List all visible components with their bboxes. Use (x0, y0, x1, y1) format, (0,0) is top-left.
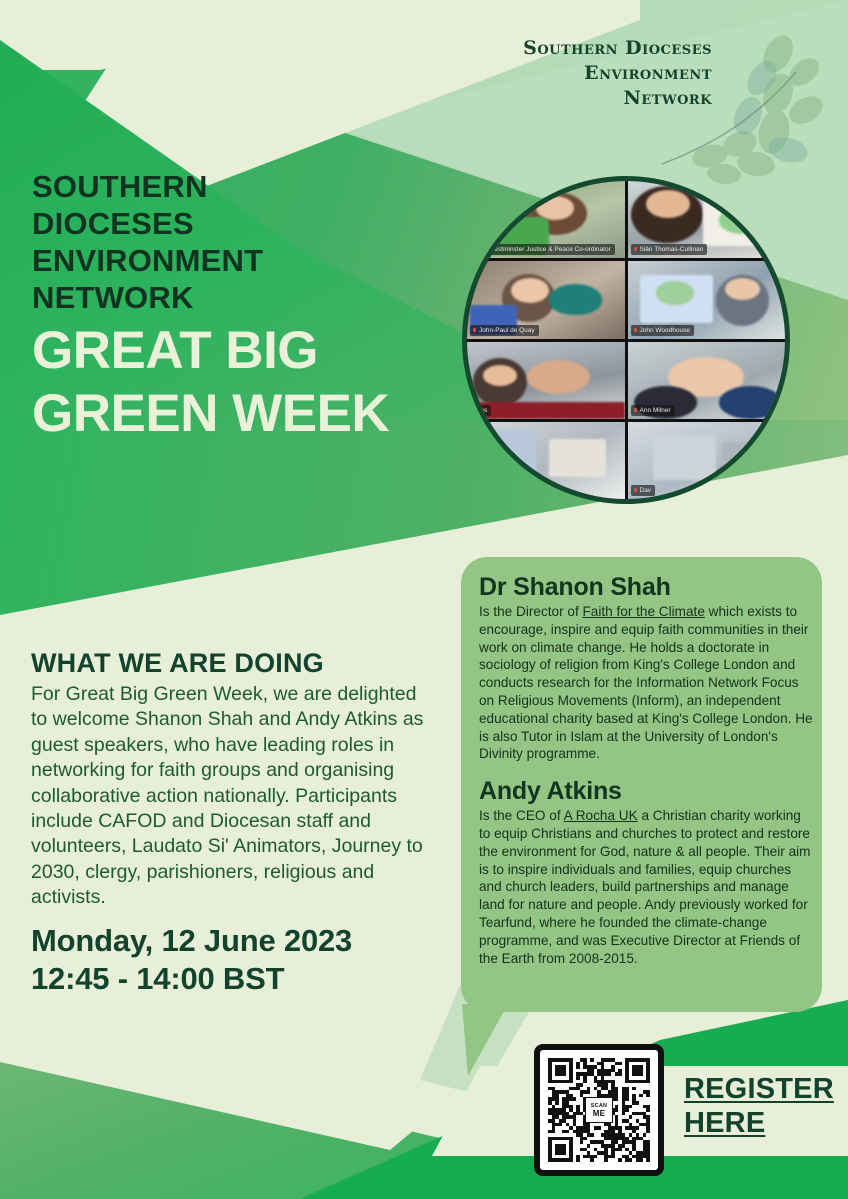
headline-kicker-4: NETWORK (32, 279, 462, 316)
page-title: SOUTHERN DIOCESES ENVIRONMENT NETWORK GR… (32, 168, 462, 442)
zoom-call-photo: g - Westminster Justice & Peace Co-ordin… (462, 176, 790, 504)
headline-title-2: GREEN WEEK (32, 385, 462, 442)
participant-name: John-Paul de Quay (470, 325, 539, 336)
event-time: 12:45 - 14:00 BST (31, 960, 451, 998)
section-heading: WHAT WE ARE DOING (31, 648, 431, 679)
participant-name: les (470, 405, 491, 416)
zoom-tile: Dav (628, 422, 786, 499)
participant-name: g - Westminster Justice & Peace Co-ordin… (470, 244, 615, 255)
zoom-tile (467, 422, 625, 499)
scan-me-bottom: ME (593, 1110, 605, 1118)
register-line-2: HERE (684, 1106, 848, 1140)
participant-name (470, 494, 483, 496)
speaker-bio: Is the CEO of A Rocha UK a Christian cha… (479, 807, 813, 967)
register-line-1: REGISTER (684, 1072, 848, 1106)
what-we-are-doing-section: WHAT WE ARE DOING For Great Big Green We… (31, 648, 431, 911)
zoom-tile: John Woodhouse (628, 261, 786, 338)
botanical-leaf-sprig-icon (628, 32, 828, 192)
zoom-tile: Ann Milner (628, 342, 786, 419)
speaker-entry-shanon-shah: Dr Shanon Shah Is the Director of Faith … (479, 572, 813, 763)
headline-kicker-3: ENVIRONMENT (32, 242, 462, 279)
register-link[interactable]: REGISTER HERE (684, 1072, 848, 1140)
section-body: For Great Big Green Week, we are delight… (31, 682, 431, 911)
bio-spacer (479, 763, 813, 776)
participant-name: Dav (631, 485, 656, 496)
bio-rest: which exists to encourage, inspire and e… (479, 604, 813, 761)
bio-rest: a Christian charity working to equip Chr… (479, 808, 810, 965)
zoom-tile: Siân Thomas-Cullinan (628, 181, 786, 258)
event-datetime: Monday, 12 June 2023 12:45 - 14:00 BST (31, 922, 451, 998)
headline-kicker-2: DIOCESES (32, 205, 462, 242)
speaker-name: Andy Atkins (479, 776, 813, 806)
zoom-participant-grid: g - Westminster Justice & Peace Co-ordin… (467, 181, 785, 499)
bio-link[interactable]: A Rocha UK (564, 808, 638, 823)
headline-title-1: GREAT BIG (32, 322, 462, 379)
zoom-tile: les (467, 342, 625, 419)
bio-intro: Is the CEO of (479, 808, 564, 823)
qr-code[interactable]: SCAN ME (534, 1044, 664, 1176)
bio-link[interactable]: Faith for the Climate (583, 604, 705, 619)
speaker-bio: Is the Director of Faith for the Climate… (479, 603, 813, 763)
zoom-tile: g - Westminster Justice & Peace Co-ordin… (467, 181, 625, 258)
qr-code-matrix: SCAN ME (548, 1058, 650, 1162)
poster-canvas: Southern Dioceses Environment Network SO… (0, 0, 848, 1199)
speaker-name: Dr Shanon Shah (479, 572, 813, 602)
headline-kicker-1: SOUTHERN (32, 168, 462, 205)
bio-intro: Is the Director of (479, 604, 583, 619)
speaker-bio-content: Dr Shanon Shah Is the Director of Faith … (479, 572, 813, 967)
participant-name: John Woodhouse (631, 325, 694, 336)
speaker-entry-andy-atkins: Andy Atkins Is the CEO of A Rocha UK a C… (479, 776, 813, 967)
scan-me-badge: SCAN ME (585, 1097, 613, 1123)
zoom-tile: John-Paul de Quay (467, 261, 625, 338)
participant-name: Ann Milner (631, 405, 675, 416)
event-date: Monday, 12 June 2023 (31, 922, 451, 960)
participant-name: Siân Thomas-Cullinan (631, 244, 708, 255)
brand-logo: Southern Dioceses Environment Network (500, 36, 820, 146)
